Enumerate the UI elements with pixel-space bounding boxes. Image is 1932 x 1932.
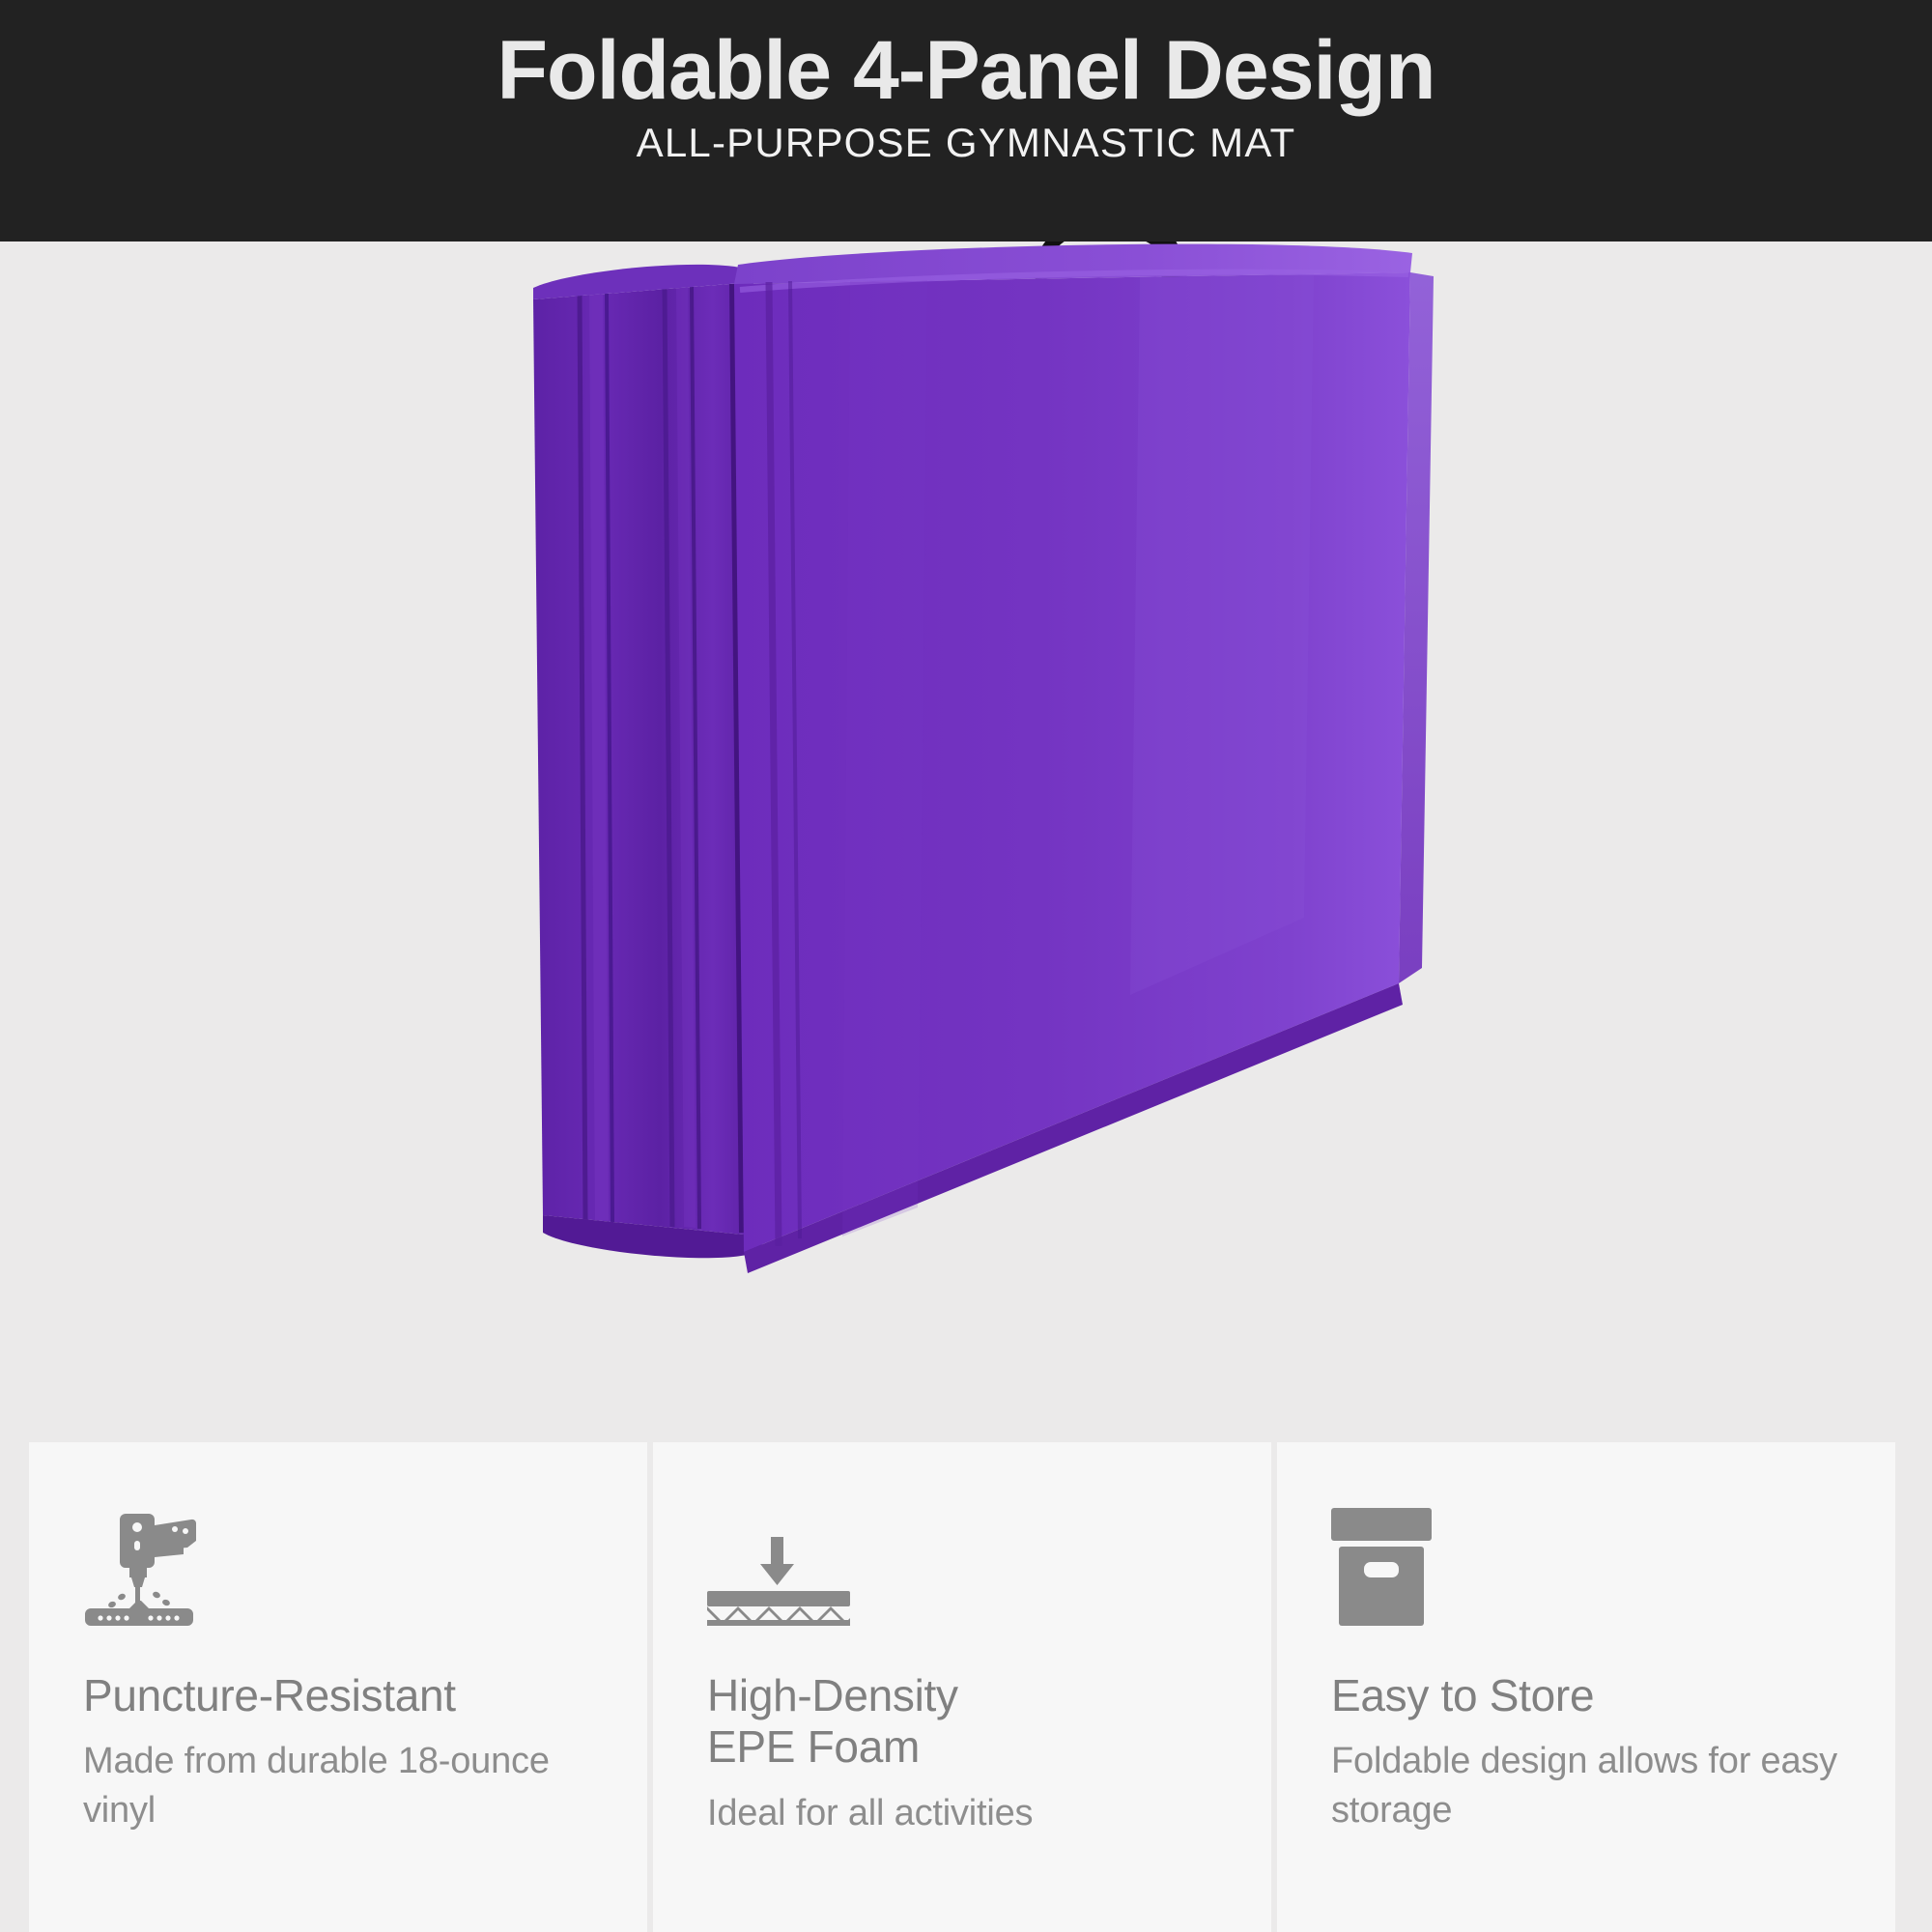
- foam-density-arrow-icon: [707, 1500, 1217, 1626]
- feature-card-puncture-resistant: Puncture-Resistant Made from durable 18-…: [29, 1442, 647, 1932]
- feature-title: Easy to Store: [1331, 1670, 1841, 1721]
- feature-description: Ideal for all activities: [707, 1789, 1217, 1837]
- feature-card-epe-foam: High-Density EPE Foam Ideal for all acti…: [653, 1442, 1271, 1932]
- feature-description: Foldable design allows for easy storage: [1331, 1737, 1841, 1833]
- mat-front-face: [734, 244, 1434, 1273]
- feature-card-easy-to-store: Easy to Store Foldable design allows for…: [1277, 1442, 1895, 1932]
- folded-mat-illustration: [0, 241, 1932, 1401]
- product-image: [0, 241, 1932, 1401]
- storage-box-icon: [1331, 1500, 1841, 1626]
- product-stage: Puncture-Resistant Made from durable 18-…: [0, 241, 1932, 1932]
- feature-title: High-Density EPE Foam: [707, 1670, 1217, 1774]
- header-bar: Foldable 4-Panel Design ALL-PURPOSE GYMN…: [0, 0, 1932, 241]
- feature-title: Puncture-Resistant: [83, 1670, 593, 1721]
- page-subtitle: ALL-PURPOSE GYMNASTIC MAT: [0, 120, 1932, 166]
- page-title: Foldable 4-Panel Design: [0, 27, 1932, 114]
- feature-description: Made from durable 18-ounce vinyl: [83, 1737, 593, 1833]
- folded-panel-stack: [533, 265, 763, 1258]
- drill-puncture-icon: [83, 1500, 593, 1626]
- feature-card-row: Puncture-Resistant Made from durable 18-…: [29, 1442, 1903, 1932]
